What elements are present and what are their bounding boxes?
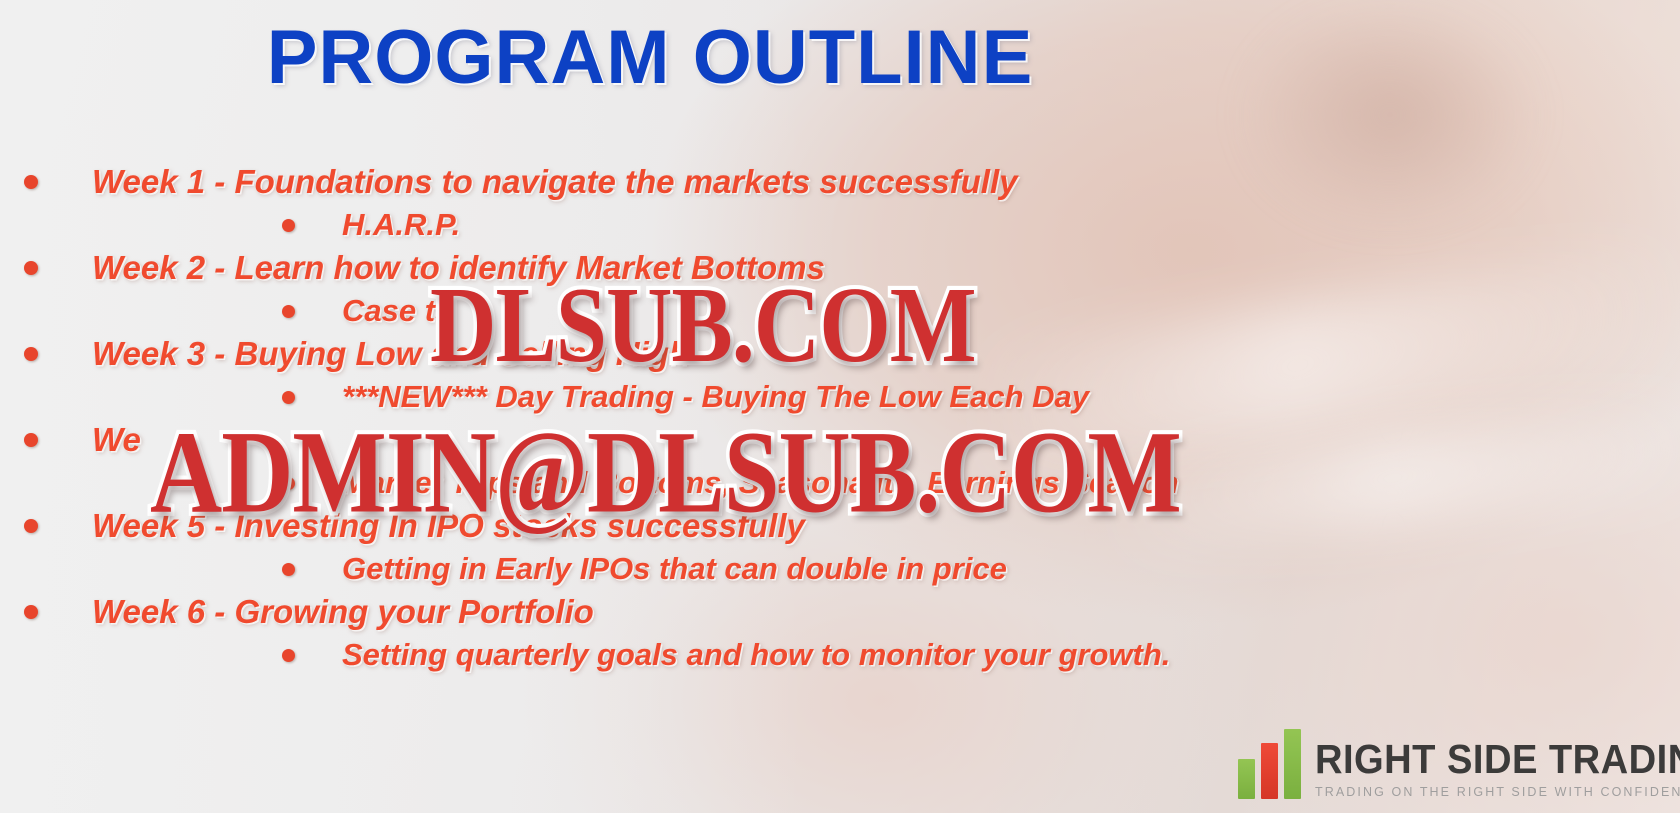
list-item-label: Week 1 - Foundations to navigate the mar… [92,160,1018,203]
bullet-icon [24,433,38,447]
list-item: Setting quarterly goals and how to monit… [0,633,1500,676]
list-item-label: H.A.R.P. [342,203,460,246]
watermark-site: DLSUB.COM [430,262,976,387]
bar-chart-bar [1261,743,1278,799]
brand-logo-text: RIGHT SIDE TRADING TRADING ON THE RIGHT … [1315,739,1680,799]
watermark-site-text: DLSUB.COM [430,264,976,384]
page-title: PROGRAM OUTLINE [0,14,1300,101]
list-item-label: Setting quarterly goals and how to monit… [342,633,1170,676]
list-item-label: Getting in Early IPOs that can double in… [342,547,1007,590]
bullet-icon [24,519,38,533]
bar-chart-bar [1284,729,1301,799]
bar-chart-bar [1238,759,1255,799]
bar-chart-icon [1238,729,1301,799]
list-item: Week 1 - Foundations to navigate the mar… [0,160,1500,203]
brand-logo: RIGHT SIDE TRADING TRADING ON THE RIGHT … [1238,729,1680,805]
list-item-label: We [92,418,141,461]
bullet-icon [282,219,295,232]
bullet-icon [282,649,295,662]
list-item: Getting in Early IPOs that can double in… [0,547,1500,590]
bullet-icon [24,175,38,189]
bullet-icon [24,261,38,275]
watermark-email-text: ADMIN@DLSUB.COM [150,406,1181,537]
watermark-email: ADMIN@DLSUB.COM [150,404,1181,540]
brand-tagline: TRADING ON THE RIGHT SIDE WITH CONFIDENC… [1315,785,1680,799]
brand-name: RIGHT SIDE TRADING [1315,739,1680,780]
list-item-label: Week 6 - Growing your Portfolio [92,590,594,633]
bullet-icon [24,605,38,619]
program-outline-slide: PROGRAM OUTLINE Week 1 - Foundations to … [0,0,1680,813]
bullet-icon [282,391,295,404]
bullet-icon [282,563,295,576]
bullet-icon [282,305,295,318]
list-item: H.A.R.P. [0,203,1500,246]
list-item: Week 6 - Growing your Portfolio [0,590,1500,633]
bullet-icon [24,347,38,361]
